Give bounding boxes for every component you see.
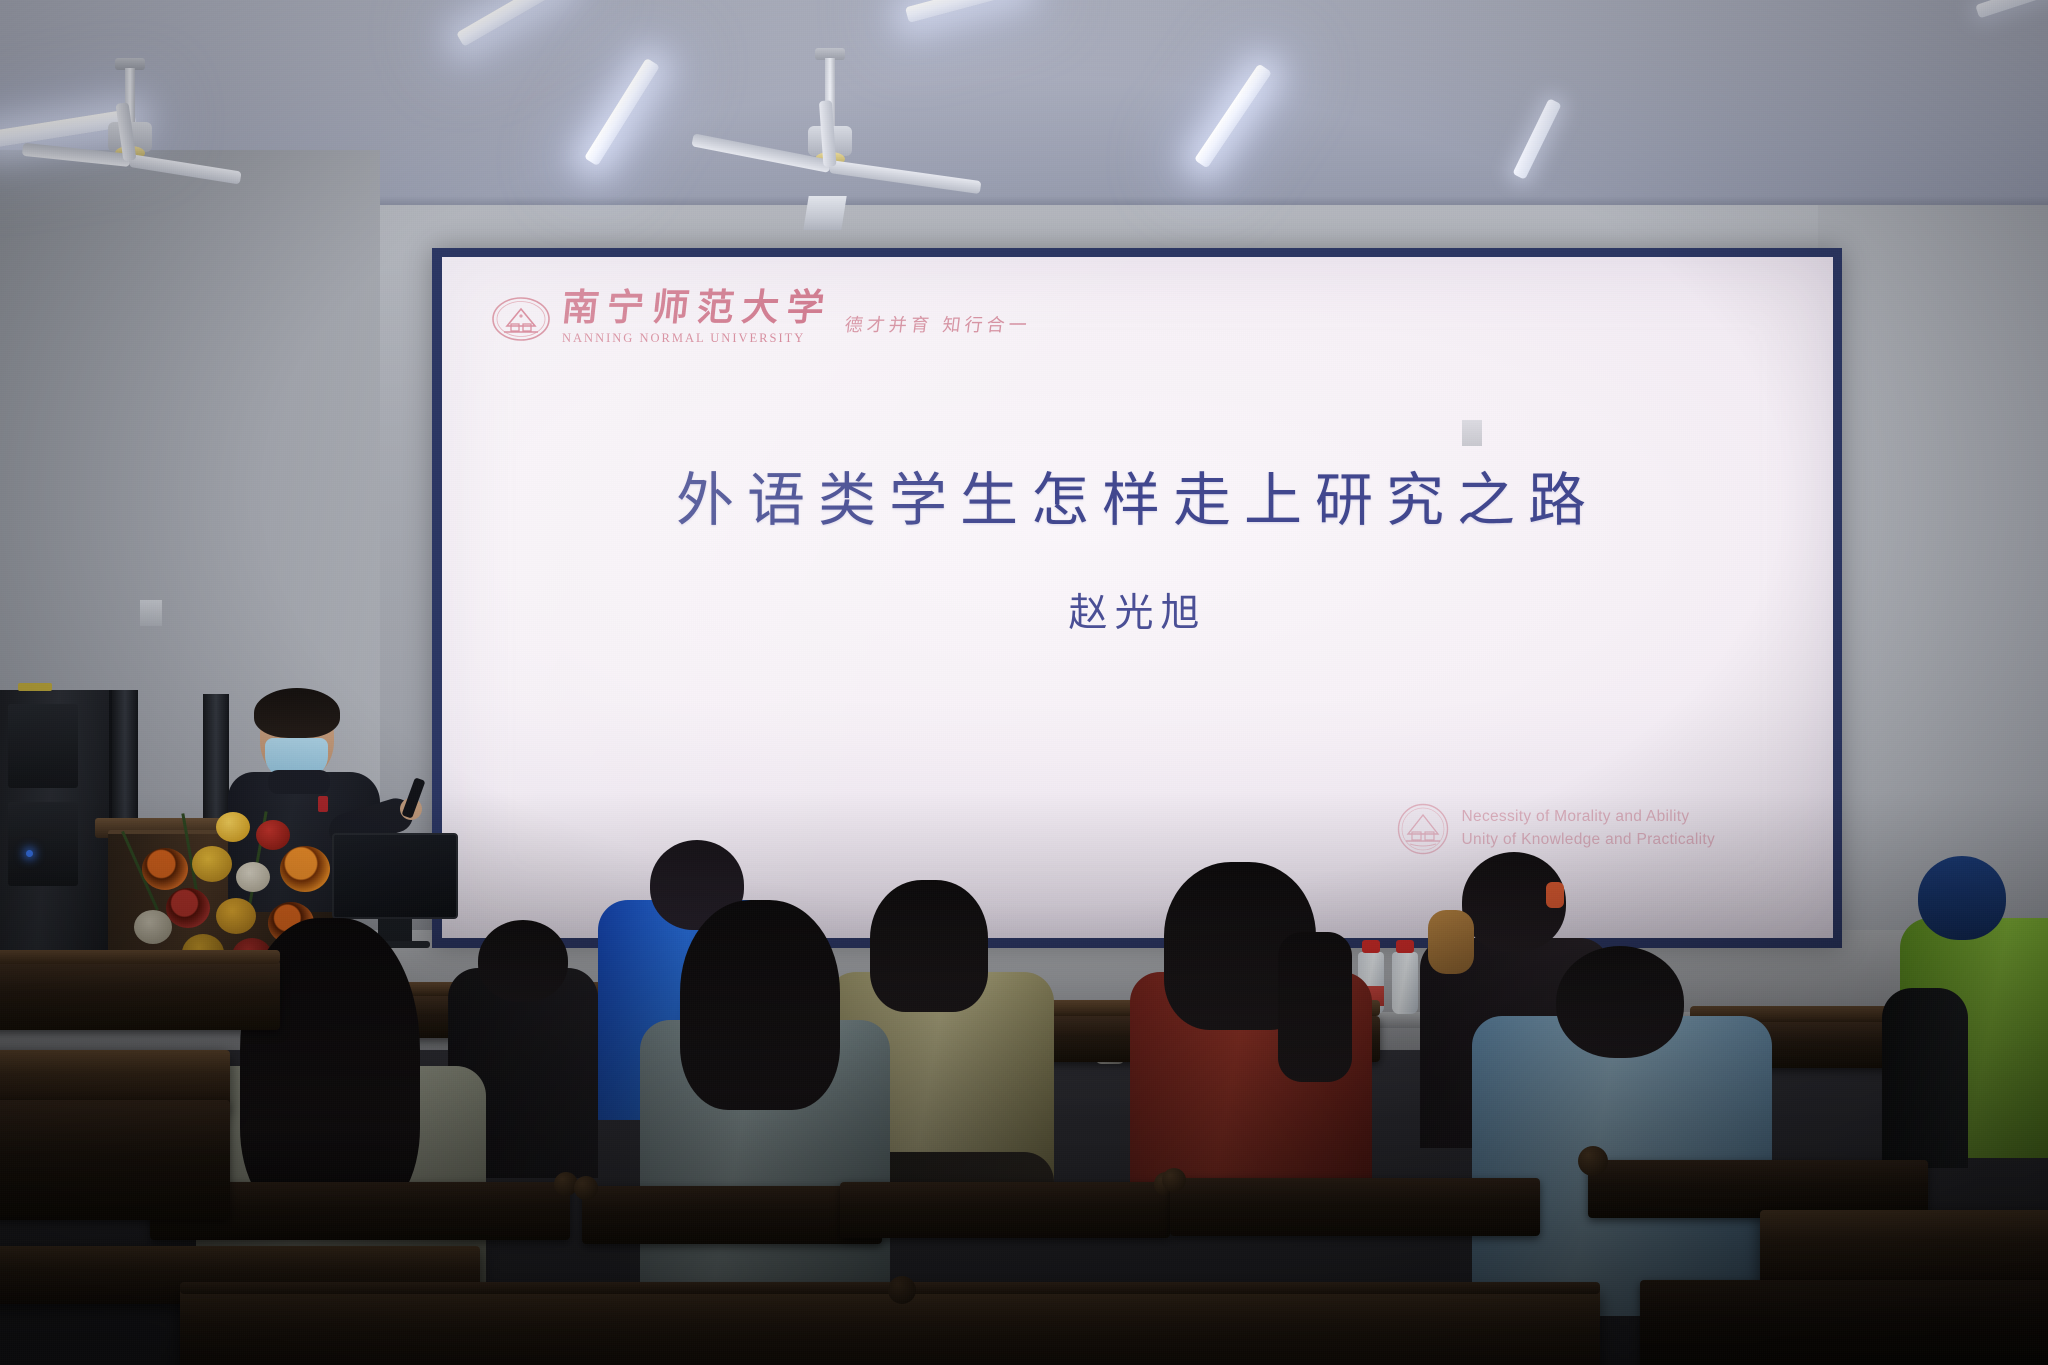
bench-knob [888,1276,916,1304]
student-light-blue-hoodie [1472,946,1772,1316]
flower [280,846,330,892]
slide-title: 外语类学生怎样走上研究之路 [442,453,1833,537]
ceiling-fan-left [30,58,230,208]
footer-line-1: Necessity of Morality and Ability [1462,808,1690,825]
university-name-cn: 南宁师范大学 [560,289,834,326]
flower [142,848,188,890]
rack-top-strip [18,683,52,691]
bench-back [1170,1178,1540,1236]
flower [216,812,250,842]
student-dark-sleeve [1882,988,1968,1168]
fan-blade [129,154,242,184]
student-head [478,920,568,1002]
presenter-hair [254,688,340,738]
rack-vent [8,704,78,788]
lecture-hall-photo: 南宁师范大学 NANNING NORMAL UNIVERSITY 德才并育 知行… [0,0,2048,1365]
bench-desk [1760,1210,2048,1284]
flower [134,910,172,944]
student-hand [1428,910,1474,974]
slide-author: 赵光旭 [442,582,1833,638]
bench-back [0,960,280,1030]
bench-knob [1162,1168,1186,1192]
university-name-en: NANNING NORMAL UNIVERSITY [562,331,832,346]
rack-vent [8,802,78,886]
bench-back [1640,1280,2048,1365]
university-seal-icon [491,296,549,340]
slide-footer: Necessity of Morality and Ability Unity … [1397,803,1715,855]
front-desk [180,1288,1600,1365]
student-beanie [1918,856,2006,940]
university-logo: 南宁师范大学 NANNING NORMAL UNIVERSITY 德才并育 知行… [491,289,1031,346]
bench-back [582,1186,882,1244]
rack-power-led [26,850,33,857]
student-green-jacket-right [1900,848,2048,1148]
flower [192,846,232,882]
wall-plate [140,600,162,626]
student-hair [680,900,840,1110]
university-motto-cn: 德才并育 知行合一 [843,311,1032,337]
wall-socket [1462,420,1482,446]
bench-knob [574,1176,598,1200]
hair-clip-icon [1546,882,1564,908]
bench-knob [1578,1146,1608,1176]
slide-footer-text: Necessity of Morality and Ability Unity … [1462,806,1715,852]
presentation-slide: 南宁师范大学 NANNING NORMAL UNIVERSITY 德才并育 知行… [442,257,1833,938]
flower [236,862,270,892]
bottle-cap [1396,940,1414,953]
student-hair-tail [1278,932,1352,1082]
university-seal-small-icon [1397,803,1449,855]
bench-back [0,1100,230,1220]
student-red-jacket [1130,862,1372,1222]
presenter-collar [268,770,330,794]
footer-line-2: Unity of Knowledge and Practicality [1462,831,1715,848]
bench-rail [0,950,280,964]
flower [256,820,290,850]
student-head [1556,946,1684,1058]
bench-back [840,1182,1170,1238]
ceiling-fan-center [720,48,940,213]
presenter-monitor [332,833,458,919]
water-bottle [1392,952,1418,1014]
projector-mount [803,196,846,230]
